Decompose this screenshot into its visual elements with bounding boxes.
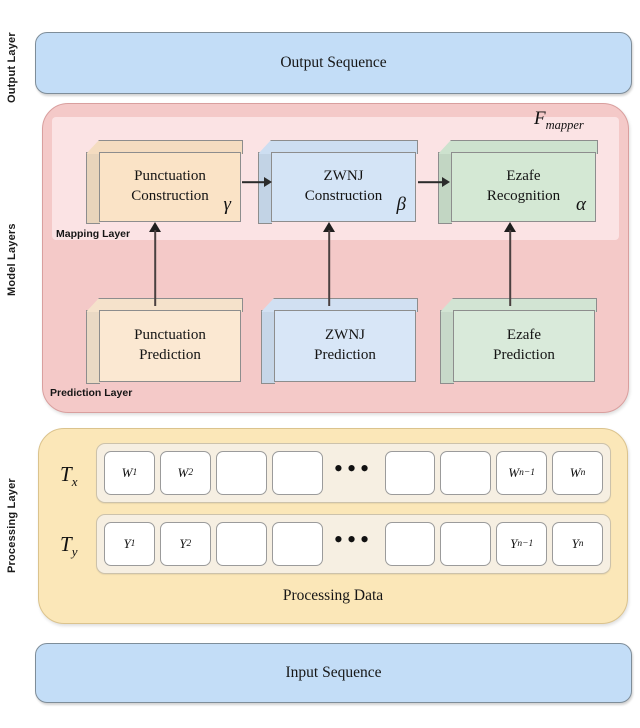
token-base: Y bbox=[572, 536, 579, 552]
t-label-base: T bbox=[60, 532, 72, 556]
token-base: Y bbox=[179, 536, 186, 552]
input-sequence-band: Input Sequence bbox=[35, 643, 632, 703]
arrow-shaft bbox=[509, 230, 511, 306]
token-sub: 2 bbox=[187, 539, 192, 549]
box-line-2: Prediction bbox=[139, 346, 201, 366]
diagram-canvas: Output Layer Model Layers Processing Lay… bbox=[0, 0, 640, 728]
side-label-output-layer: Output Layer bbox=[6, 32, 18, 104]
token-cell[interactable]: Wn bbox=[552, 451, 603, 495]
box-front-face: Ezafe Prediction bbox=[453, 310, 595, 382]
token-ellipsis: ••• bbox=[328, 522, 380, 566]
box-line-1: Ezafe bbox=[506, 167, 540, 187]
token-ellipsis: ••• bbox=[328, 451, 380, 495]
box-punctuation-construction[interactable]: Punctuation Construction γ bbox=[86, 140, 241, 222]
box-line-2: Prediction bbox=[314, 346, 376, 366]
token-cell[interactable] bbox=[385, 451, 436, 495]
box-front-face: ZWNJ Prediction bbox=[274, 310, 416, 382]
arrow-punctuation-prediction-up bbox=[148, 222, 162, 306]
box-line-1: Punctuation bbox=[134, 167, 206, 187]
token-sub: 1 bbox=[132, 468, 137, 478]
processing-data-label: Processing Data bbox=[39, 587, 627, 605]
t-label-base: T bbox=[60, 462, 72, 486]
mapping-layer-tag: Mapping Layer bbox=[56, 228, 130, 240]
arrow-shaft bbox=[242, 181, 265, 183]
box-ezafe-prediction[interactable]: Ezafe Prediction bbox=[440, 298, 595, 382]
fmapper-base: F bbox=[534, 108, 546, 129]
box-line-1: Ezafe bbox=[507, 326, 541, 346]
symbol-alpha: α bbox=[576, 192, 586, 217]
output-sequence-band: Output Sequence bbox=[35, 32, 632, 94]
token-cell[interactable]: Wn−1 bbox=[496, 451, 547, 495]
token-sub: n−1 bbox=[517, 539, 533, 549]
token-sub: n−1 bbox=[519, 468, 535, 478]
box-front-face: ZWNJ Construction β bbox=[271, 152, 416, 222]
t-label-sub: x bbox=[72, 474, 78, 489]
token-base: Y bbox=[123, 536, 130, 552]
arrow-shaft bbox=[328, 230, 330, 306]
arrow-head bbox=[264, 177, 272, 187]
token-base: W bbox=[122, 465, 133, 481]
token-cell[interactable] bbox=[216, 522, 267, 566]
token-cell[interactable] bbox=[272, 522, 323, 566]
token-cell[interactable]: W1 bbox=[104, 451, 155, 495]
symbol-gamma: γ bbox=[224, 192, 232, 217]
box-line-1: Punctuation bbox=[134, 326, 206, 346]
token-sub: n bbox=[579, 539, 584, 549]
arrow-ezafe-prediction-up bbox=[503, 222, 517, 306]
side-label-model-layers: Model Layers bbox=[6, 106, 18, 414]
prediction-layer-tag: Prediction Layer bbox=[50, 387, 132, 399]
input-sequence-label: Input Sequence bbox=[36, 664, 631, 682]
arrow-zwnj-prediction-up bbox=[322, 222, 336, 306]
box-punctuation-prediction[interactable]: Punctuation Prediction bbox=[86, 298, 241, 382]
t-label-sub: y bbox=[72, 544, 78, 559]
token-cell[interactable]: Yn bbox=[552, 522, 603, 566]
token-cell[interactable] bbox=[272, 451, 323, 495]
box-line-2: Construction bbox=[305, 187, 383, 207]
symbol-beta: β bbox=[397, 192, 406, 217]
token-cell[interactable]: Y1 bbox=[104, 522, 155, 566]
box-zwnj-prediction[interactable]: ZWNJ Prediction bbox=[261, 298, 416, 382]
box-line-1: ZWNJ bbox=[325, 326, 365, 346]
box-front-face: Punctuation Prediction bbox=[99, 310, 241, 382]
box-front-face: Punctuation Construction γ bbox=[99, 152, 241, 222]
fmapper-subscript: mapper bbox=[546, 118, 584, 132]
arrow-shaft bbox=[154, 230, 156, 306]
token-sub: 1 bbox=[131, 539, 136, 549]
token-cell[interactable]: Y2 bbox=[160, 522, 211, 566]
arrow-shaft bbox=[418, 181, 443, 183]
token-cell[interactable] bbox=[440, 522, 491, 566]
arrow-punctuation-to-zwnj bbox=[242, 175, 272, 189]
token-base: W bbox=[570, 465, 581, 481]
box-zwnj-construction[interactable]: ZWNJ Construction β bbox=[258, 140, 416, 222]
output-sequence-label: Output Sequence bbox=[36, 54, 631, 72]
box-ezafe-recognition[interactable]: Ezafe Recognition α bbox=[438, 140, 596, 222]
arrow-head bbox=[442, 177, 450, 187]
token-cell[interactable] bbox=[440, 451, 491, 495]
box-side-face bbox=[86, 152, 100, 224]
side-label-processing-layer: Processing Layer bbox=[6, 428, 18, 624]
row-label-tx: Tx bbox=[60, 462, 77, 490]
token-cell[interactable] bbox=[216, 451, 267, 495]
box-front-face: Ezafe Recognition α bbox=[451, 152, 596, 222]
box-line-2: Prediction bbox=[493, 346, 555, 366]
row-label-ty: Ty bbox=[60, 532, 77, 560]
box-side-face bbox=[440, 310, 454, 384]
token-base: Y bbox=[510, 536, 517, 552]
fmapper-label: Fmapper bbox=[534, 108, 584, 133]
token-base: W bbox=[508, 465, 519, 481]
box-side-face bbox=[261, 310, 275, 384]
arrow-zwnj-to-ezafe bbox=[418, 175, 450, 189]
box-side-face bbox=[86, 310, 100, 384]
token-cell[interactable] bbox=[385, 522, 436, 566]
box-line-1: ZWNJ bbox=[324, 167, 364, 187]
token-sub: n bbox=[581, 468, 586, 478]
token-cell[interactable]: W2 bbox=[160, 451, 211, 495]
token-strip-ty: Y1 Y2 ••• Yn−1 Yn bbox=[96, 514, 611, 574]
token-sub: 2 bbox=[188, 468, 193, 478]
token-cell[interactable]: Yn−1 bbox=[496, 522, 547, 566]
box-line-2: Recognition bbox=[487, 187, 560, 207]
box-line-2: Construction bbox=[131, 187, 209, 207]
token-base: W bbox=[178, 465, 189, 481]
token-strip-tx: W1 W2 ••• Wn−1 Wn bbox=[96, 443, 611, 503]
